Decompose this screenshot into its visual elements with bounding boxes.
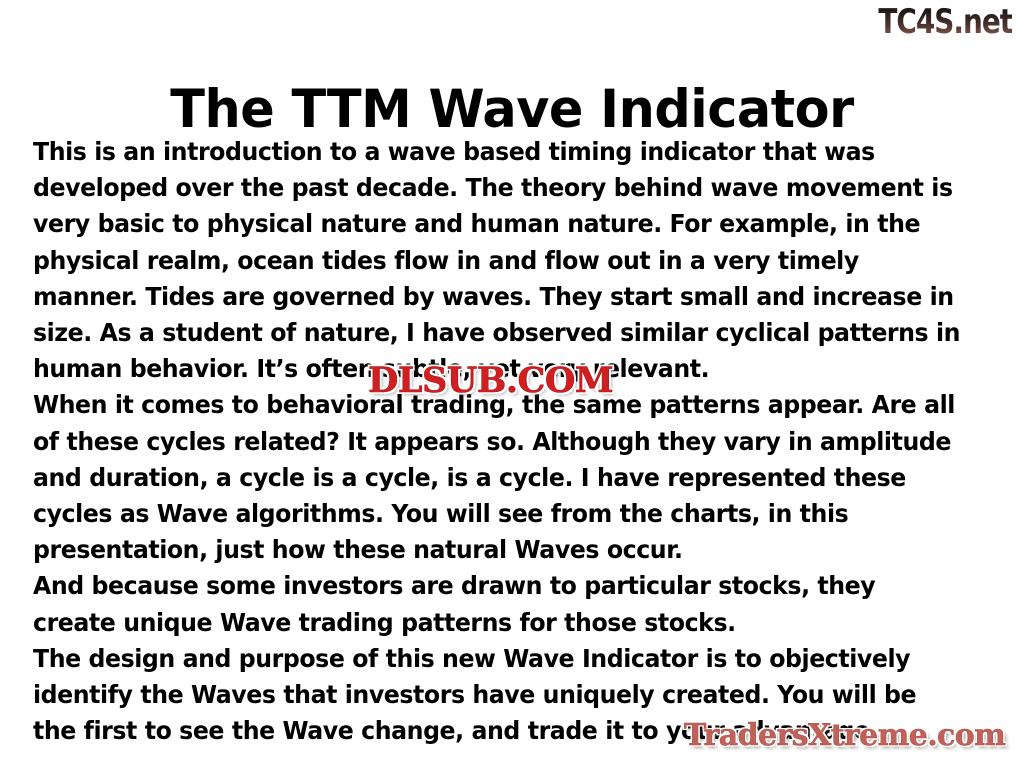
body-paragraph: This is an introduction to a wave based …	[33, 134, 961, 387]
body-paragraph: And because some investors are drawn to …	[33, 568, 961, 640]
slide-canvas: TC4S.net The TTM Wave Indicator This is …	[0, 0, 1024, 768]
body-paragraph: When it comes to behavioral trading, the…	[33, 387, 961, 568]
footer-logo-tradersxtreme: TradersXtreme.com	[684, 719, 1005, 753]
page-title: The TTM Wave Indicator	[20, 80, 1003, 140]
brand-logo-tc4s: TC4S.net	[878, 2, 1012, 42]
watermark-dlsub: DLSUB.COM	[368, 362, 613, 400]
body-copy: This is an introduction to a wave based …	[33, 134, 961, 749]
